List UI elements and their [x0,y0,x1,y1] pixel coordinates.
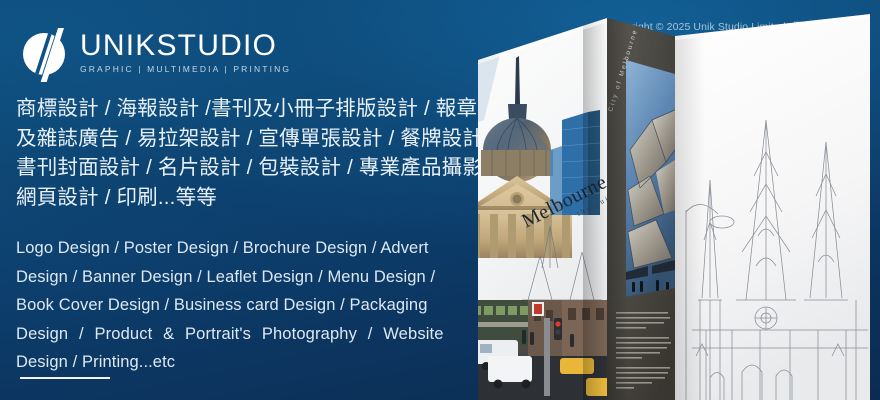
services-copy: 商標設計 / 海報設計 /書刊及小冊子排版設計 / 報章 及雜誌廣告 / 易拉架… [16,94,468,377]
services-chinese-line: 商標設計 / 海報設計 /書刊及小冊子排版設計 / 報章 [16,94,468,124]
brand-logo[interactable]: UNIKSTUDIO GRAPHIC | MULTIMEDIA | PRINTI… [18,26,291,82]
services-english-line: Book Cover Design / Business card Design… [16,291,468,320]
melbourne-city-brochure-mockup: Melbourne City the guide [470,0,880,400]
brand-tagline: GRAPHIC | MULTIMEDIA | PRINTING [80,64,291,74]
federation-square-photo [626,60,675,300]
services-chinese-line: 及雜誌廣告 / 易拉架設計 / 宣傳單張設計 / 餐牌設計 / [16,124,468,154]
services-chinese-line: 書刊封面設計 / 名片設計 / 包裝設計 / 專業產品攝影 / [16,153,468,183]
services-chinese-line: 網頁設計 / 印刷...等等 [16,183,468,213]
brochure-mockup-illustration: Melbourne City the guide [470,0,880,400]
brand-lockup-text: UNIKSTUDIO GRAPHIC | MULTIMEDIA | PRINTI… [80,26,291,74]
services-chinese-block: 商標設計 / 海報設計 /書刊及小冊子排版設計 / 報章 及雜誌廣告 / 易拉架… [16,94,468,212]
services-english-line: Design / Banner Design / Leaflet Design … [16,263,468,292]
services-english-line: Logo Design / Poster Design / Brochure D… [16,234,468,263]
brochure-middle-panel: City of Melbourne [607,0,675,400]
brand-name: UNIKSTUDIO [80,31,291,61]
services-english-line: Design / Product & Portrait's Photograph… [16,320,468,349]
promo-banner: UNIKSTUDIO GRAPHIC | MULTIMEDIA | PRINTI… [0,0,880,400]
services-english-block: Logo Design / Poster Design / Brochure D… [16,234,468,377]
services-english-line: Design / Printing...etc [16,348,468,377]
unik-slash-circle-logo-icon [18,26,74,82]
brochure-right-panel [675,0,870,400]
footer-divider-rule [20,377,110,379]
